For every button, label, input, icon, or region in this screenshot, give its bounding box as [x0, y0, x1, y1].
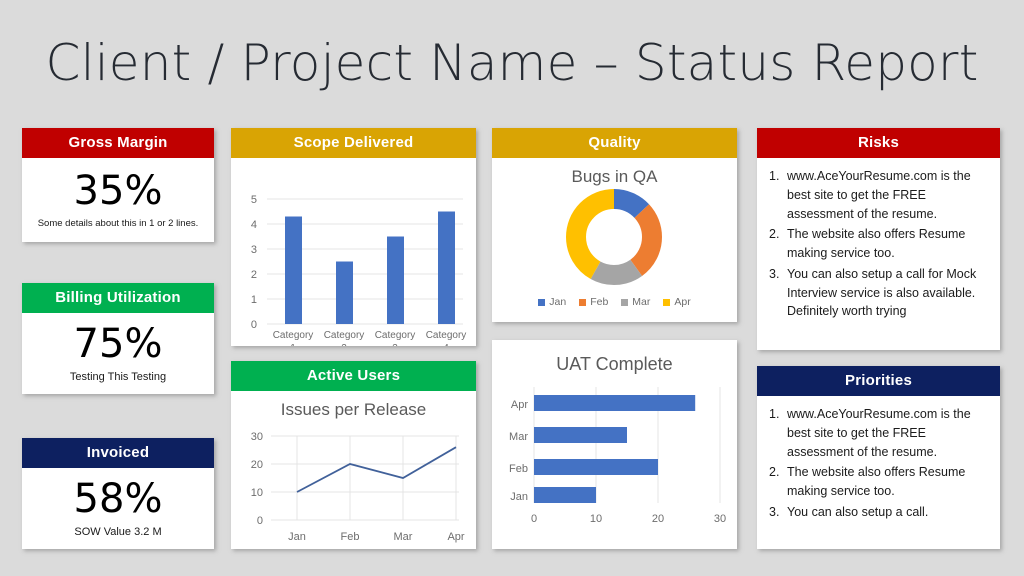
- donut-segments: [576, 199, 652, 275]
- svg-text:30: 30: [714, 513, 726, 525]
- chart-title-uat-complete: UAT Complete: [492, 340, 737, 375]
- list-item-number: 2.: [763, 225, 787, 244]
- risks-list: 1. www.AceYourResume.com is the best sit…: [757, 158, 1000, 331]
- kpi-card-billing-utilization[interactable]: Billing Utilization 75% Testing This Tes…: [22, 283, 214, 394]
- svg-text:Category: Category: [273, 330, 314, 341]
- legend-label-feb: Feb: [590, 296, 608, 308]
- svg-text:3: 3: [251, 244, 257, 256]
- svg-text:0: 0: [257, 515, 263, 527]
- x-axis-ticks: Jan Feb Mar Apr: [288, 531, 465, 543]
- kpi-value-billing-utilization: 75%: [74, 323, 163, 365]
- list-item[interactable]: 1. www.AceYourResume.com is the best sit…: [763, 405, 992, 461]
- svg-text:2: 2: [251, 269, 257, 281]
- svg-text:1: 1: [251, 294, 257, 306]
- svg-text:Category: Category: [426, 330, 467, 341]
- chart-scope-delivered: 5 4 3 2 1 0 Category 1: [231, 158, 476, 351]
- card-active-users[interactable]: Active Users Issues per Release 30 20 1: [231, 361, 476, 549]
- chart-legend-bugs-in-qa: Jan Feb Mar Apr: [492, 292, 737, 308]
- scope-delivered-svg: 5 4 3 2 1 0 Category 1: [231, 158, 476, 346]
- kpi-card-gross-margin[interactable]: Gross Margin 35% Some details about this…: [22, 128, 214, 242]
- gridlines: [271, 436, 459, 520]
- legend-swatch-feb: [579, 299, 586, 306]
- svg-text:Category: Category: [324, 330, 365, 341]
- legend-label-jan: Jan: [549, 296, 566, 308]
- svg-text:Apr: Apr: [447, 531, 464, 543]
- card-priorities[interactable]: Priorities 1. www.AceYourResume.com is t…: [757, 366, 1000, 549]
- kpi-subtext-gross-margin: Some details about this in 1 or 2 lines.: [32, 218, 205, 229]
- svg-text:20: 20: [251, 459, 263, 471]
- card-scope-delivered[interactable]: Scope Delivered 5 4 3 2 1: [231, 128, 476, 346]
- list-item-number: 2.: [763, 463, 787, 482]
- card-quality[interactable]: Quality Bugs in QA Jan Feb: [492, 128, 737, 322]
- svg-text:3: 3: [392, 343, 398, 346]
- svg-text:Feb: Feb: [509, 463, 528, 475]
- svg-text:2: 2: [341, 343, 347, 346]
- card-header-quality: Quality: [492, 128, 737, 158]
- svg-text:Mar: Mar: [509, 431, 528, 443]
- legend-swatch-apr: [663, 299, 670, 306]
- chart-uat-complete: Apr Mar Feb Jan 0 10 20 30: [492, 375, 737, 548]
- list-item[interactable]: 3. You can also setup a call for Mock In…: [763, 265, 992, 321]
- chart-title-issues-per-release: Issues per Release: [231, 391, 476, 420]
- svg-text:4: 4: [443, 343, 449, 346]
- list-item-text: You can also setup a call for Mock Inter…: [787, 265, 992, 321]
- svg-text:Category: Category: [375, 330, 416, 341]
- legend-item-apr[interactable]: Apr: [663, 296, 690, 308]
- list-item[interactable]: 2. The website also offers Resume making…: [763, 463, 992, 501]
- legend-label-mar: Mar: [632, 296, 650, 308]
- svg-text:Jan: Jan: [510, 491, 528, 503]
- svg-text:10: 10: [590, 513, 602, 525]
- list-item-text: www.AceYourResume.com is the best site t…: [787, 405, 992, 461]
- chart-issues-per-release: 30 20 10 0 Jan Feb Mar Apr: [231, 420, 476, 553]
- list-item-text: The website also offers Resume making se…: [787, 463, 992, 501]
- chart-title-bugs-in-qa: Bugs in QA: [492, 158, 737, 187]
- svg-text:Jan: Jan: [288, 531, 306, 543]
- list-item-number: 1.: [763, 167, 787, 186]
- kpi-body-gross-margin: 35% Some details about this in 1 or 2 li…: [22, 158, 214, 240]
- kpi-value-invoiced: 58%: [74, 478, 163, 520]
- kpi-card-invoiced[interactable]: Invoiced 58% SOW Value 3.2 M: [22, 438, 214, 549]
- kpi-value-gross-margin: 35%: [74, 170, 163, 212]
- list-item-number: 3.: [763, 503, 787, 522]
- x-axis-ticks: 0 10 20 30: [531, 513, 726, 525]
- svg-text:Feb: Feb: [341, 531, 360, 543]
- card-header-priorities: Priorities: [757, 366, 1000, 396]
- list-item[interactable]: 1. www.AceYourResume.com is the best sit…: [763, 167, 992, 223]
- svg-text:0: 0: [531, 513, 537, 525]
- kpi-body-billing-utilization: 75% Testing This Testing: [22, 313, 214, 392]
- svg-text:20: 20: [652, 513, 664, 525]
- legend-swatch-mar: [621, 299, 628, 306]
- y-axis-ticks: 5 4 3 2 1 0: [251, 194, 257, 331]
- svg-text:Apr: Apr: [511, 399, 528, 411]
- kpi-subtext-billing-utilization: Testing This Testing: [64, 371, 172, 383]
- legend-item-mar[interactable]: Mar: [621, 296, 650, 308]
- list-item-text: The website also offers Resume making se…: [787, 225, 992, 263]
- card-header-active-users: Active Users: [231, 361, 476, 391]
- status-report-slide: Client / Project Name – Status Report Gr…: [0, 0, 1024, 576]
- line-series: [297, 447, 456, 492]
- page-title: Client / Project Name – Status Report: [0, 34, 1024, 92]
- bar-series: [285, 212, 455, 325]
- card-uat-complete[interactable]: UAT Complete: [492, 340, 737, 549]
- uat-complete-svg: Apr Mar Feb Jan 0 10 20 30: [492, 375, 737, 543]
- chart-bugs-in-qa: [492, 187, 737, 292]
- list-item-number: 3.: [763, 265, 787, 284]
- y-axis-ticks: Apr Mar Feb Jan: [509, 399, 528, 503]
- priorities-list: 1. www.AceYourResume.com is the best sit…: [757, 396, 1000, 532]
- svg-text:0: 0: [251, 319, 257, 331]
- list-item-text: You can also setup a call.: [787, 503, 992, 522]
- kpi-subtext-invoiced: SOW Value 3.2 M: [68, 526, 167, 538]
- svg-text:5: 5: [251, 194, 257, 206]
- kpi-body-invoiced: 58% SOW Value 3.2 M: [22, 468, 214, 547]
- svg-text:4: 4: [251, 219, 257, 231]
- y-axis-ticks: 30 20 10 0: [251, 431, 263, 527]
- kpi-header-invoiced: Invoiced: [22, 438, 214, 468]
- svg-text:10: 10: [251, 487, 263, 499]
- legend-label-apr: Apr: [674, 296, 690, 308]
- list-item-number: 1.: [763, 405, 787, 424]
- legend-item-jan[interactable]: Jan: [538, 296, 566, 308]
- legend-item-feb[interactable]: Feb: [579, 296, 608, 308]
- svg-text:Mar: Mar: [394, 531, 413, 543]
- issues-per-release-svg: 30 20 10 0 Jan Feb Mar Apr: [231, 420, 476, 548]
- list-item[interactable]: 2. The website also offers Resume making…: [763, 225, 992, 263]
- list-item[interactable]: 3. You can also setup a call.: [763, 503, 992, 522]
- card-header-risks: Risks: [757, 128, 1000, 158]
- bar-series: [534, 395, 695, 503]
- legend-swatch-jan: [538, 299, 545, 306]
- kpi-header-billing-utilization: Billing Utilization: [22, 283, 214, 313]
- card-risks[interactable]: Risks 1. www.AceYourResume.com is the be…: [757, 128, 1000, 350]
- kpi-header-gross-margin: Gross Margin: [22, 128, 214, 158]
- bugs-in-qa-svg: [492, 187, 737, 287]
- x-axis-ticks: Category 1 Category 2 Category 3 Categor…: [273, 330, 467, 346]
- list-item-text: www.AceYourResume.com is the best site t…: [787, 167, 992, 223]
- svg-text:30: 30: [251, 431, 263, 443]
- svg-text:1: 1: [290, 343, 296, 346]
- card-header-scope-delivered: Scope Delivered: [231, 128, 476, 158]
